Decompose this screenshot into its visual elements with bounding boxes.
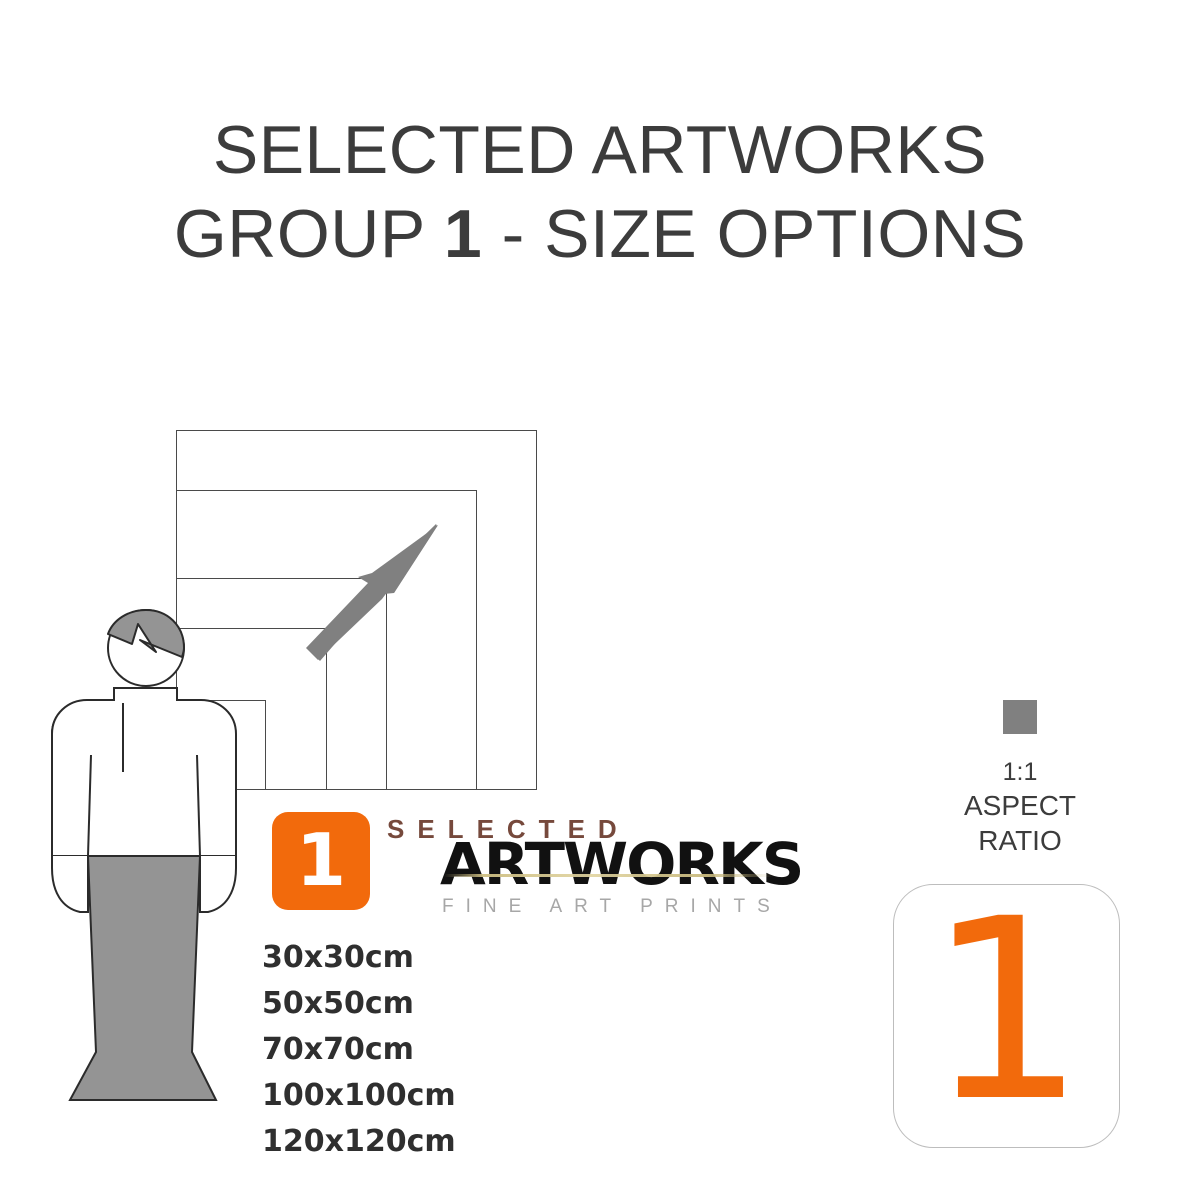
group-number-card: 1 (893, 884, 1120, 1148)
size-option-1: 30x30cm (262, 935, 592, 981)
aspect-ratio-swatch-icon (1003, 700, 1037, 734)
poster-canvas: SELECTED ARTWORKS GROUP 1 - SIZE OPTIONS (0, 0, 1200, 1200)
size-option-4: 100x100cm (262, 1073, 592, 1119)
logo-tagline-text: FINE ART PRINTS (442, 896, 782, 918)
aspect-ratio-label-line1: ASPECT (930, 788, 1110, 823)
aspect-ratio-block: 1:1 ASPECT RATIO (930, 700, 1110, 858)
group-number-digit: 1 (927, 886, 1086, 1136)
size-option-2: 50x50cm (262, 981, 592, 1027)
size-options-list: 30x30cm 50x50cm 70x70cm 100x100cm 120x12… (262, 935, 592, 1165)
aspect-ratio-value: 1:1 (930, 756, 1110, 788)
logo-wordmark: SELECTED ARTWORKS FINE ART PRINTS (382, 812, 832, 927)
size-option-5: 120x120cm (262, 1119, 592, 1165)
logo-artworks-text: ARTWORKS (440, 830, 802, 898)
logo-badge-number: 1 (296, 824, 346, 896)
size-option-3: 70x70cm (262, 1027, 592, 1073)
person-scale-figure (40, 600, 280, 1180)
logo-scratch-line-decoration (444, 874, 774, 877)
growth-arrow-icon (290, 515, 480, 675)
brand-logo: 1 SELECTED ARTWORKS FINE ART PRINTS (272, 812, 832, 932)
aspect-ratio-label-line2: RATIO (930, 823, 1110, 858)
logo-badge: 1 (272, 812, 370, 910)
